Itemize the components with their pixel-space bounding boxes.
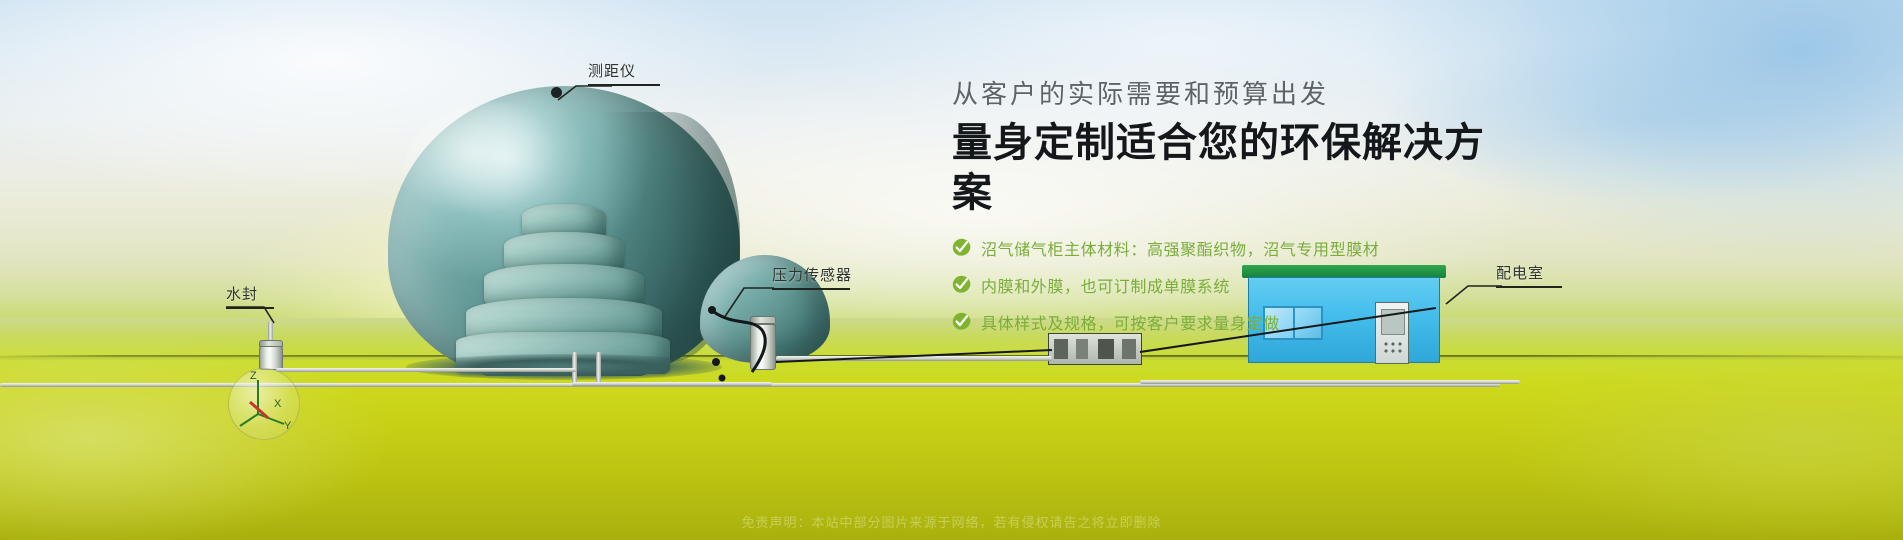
callout-rangefinder-leader bbox=[546, 80, 616, 120]
feature-bullet-list: 沼气储气柜主体材料：高强聚酯织物，沼气专用型膜材 内膜和外膜，也可订制成单膜系统 bbox=[952, 236, 1512, 334]
vent-pipe bbox=[596, 352, 601, 386]
dome-inner-membrane bbox=[460, 204, 666, 374]
feature-bullet-text: 具体样式及规格，可按客户要求量身定做 bbox=[981, 310, 1280, 334]
pipe-segment bbox=[1140, 380, 1520, 384]
gizmo-label-z: Z bbox=[250, 370, 257, 382]
hero-text-block: 从客户的实际需要和预算出发 量身定制适合您的环保解决方案 沼气储气柜主体材料：高… bbox=[952, 78, 1512, 347]
field-blur-right bbox=[1383, 330, 1903, 540]
callout-underline bbox=[772, 288, 850, 290]
gizmo-label-x: X bbox=[274, 398, 281, 410]
feature-bullet-text: 沼气储气柜主体材料：高强聚酯织物，沼气专用型膜材 bbox=[981, 236, 1379, 260]
feature-bullet-text: 内膜和外膜，也可订制成单膜系统 bbox=[981, 273, 1230, 297]
pipe-segment bbox=[572, 382, 772, 386]
callout-rangefinder-label: 测距仪 bbox=[588, 60, 660, 81]
feature-bullet-item: 具体样式及规格，可按客户要求量身定做 bbox=[952, 310, 1512, 334]
check-badge-icon bbox=[952, 312, 971, 331]
callout-pressure-sensor-label: 压力传感器 bbox=[772, 264, 852, 285]
feature-bullet-item: 内膜和外膜，也可订制成单膜系统 bbox=[952, 273, 1512, 297]
callout-water-seal-label: 水封 bbox=[226, 283, 274, 304]
footer-disclaimer: 免责声明：本站中部分图片来源于网络，若有侵权请告之将立即删除 bbox=[0, 512, 1903, 531]
water-seal-vessel bbox=[259, 346, 283, 370]
hero-banner: 测距仪 水封 压力传感器 配电室 bbox=[0, 0, 1903, 540]
check-badge-icon bbox=[952, 238, 971, 257]
check-badge-icon bbox=[952, 275, 971, 294]
pipe-segment bbox=[276, 368, 576, 372]
gizmo-label-y: Y bbox=[284, 420, 291, 432]
axis-gizmo: Z X Y bbox=[228, 368, 300, 440]
gas-holder-dome bbox=[388, 86, 740, 362]
hero-subheadline: 从客户的实际需要和预算出发 bbox=[952, 78, 1512, 112]
dome-base-ring bbox=[406, 354, 722, 380]
hero-headline: 量身定制适合您的环保解决方案 bbox=[952, 118, 1512, 218]
sensor-hose bbox=[700, 300, 780, 390]
feature-bullet-item: 沼气储气柜主体材料：高强聚酯织物，沼气专用型膜材 bbox=[952, 236, 1512, 260]
callout-pressure-sensor: 压力传感器 bbox=[772, 264, 852, 290]
